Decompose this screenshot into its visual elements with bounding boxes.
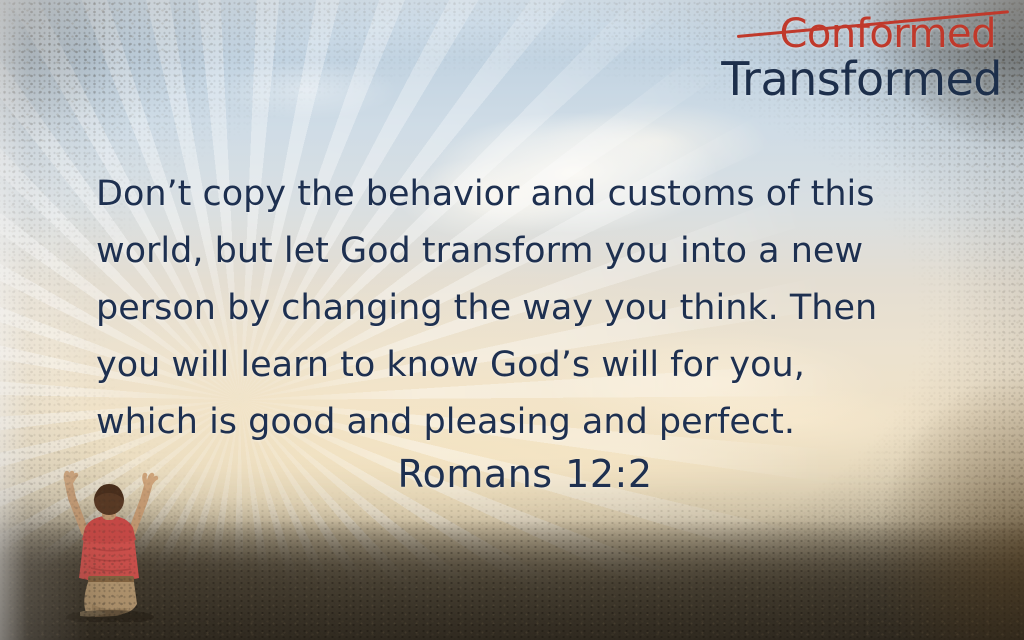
verse-line-2: world, but let God transform you into a … (96, 223, 926, 280)
conformed-label: Conformed (779, 11, 996, 57)
verse-text: Don’t copy the behavior and customs of t… (96, 166, 926, 451)
conformed-title: Conformed (773, 14, 1002, 54)
verse-line-4: you will learn to know God’s will for yo… (96, 337, 926, 394)
scripture-slide: Conformed Transformed Don’t copy the beh… (0, 0, 1024, 640)
verse-line-1: Don’t copy the behavior and customs of t… (96, 166, 926, 223)
verse-line-5: which is good and pleasing and perfect. (96, 394, 926, 451)
transformed-title: Transformed (721, 56, 1002, 102)
slide-title-block: Conformed Transformed (721, 14, 1002, 102)
verse-reference-label: Romans 12:2 (371, 452, 652, 496)
verse-reference: Romans 12:2 (0, 452, 1024, 496)
verse-line-3: person by changing the way you think. Th… (96, 280, 926, 337)
slide-content: Conformed Transformed Don’t copy the beh… (0, 0, 1024, 640)
